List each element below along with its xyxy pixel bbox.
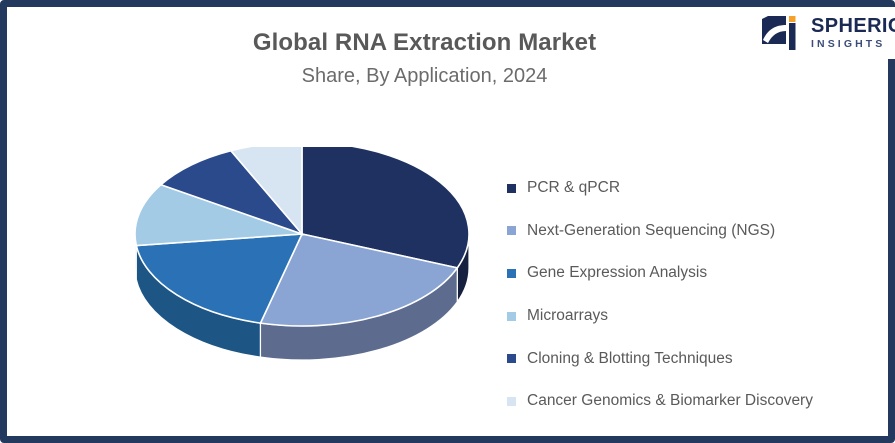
legend-item[interactable]: Gene Expression Analysis <box>507 252 877 295</box>
legend-swatch-icon <box>507 354 516 363</box>
legend-item[interactable]: Cancer Genomics & Biomarker Discovery <box>507 380 877 423</box>
legend-item[interactable]: Cloning & Blotting Techniques <box>507 337 877 380</box>
legend-swatch-icon <box>507 226 516 235</box>
legend-item[interactable]: Microarrays <box>507 295 877 338</box>
legend-item[interactable]: Next-Generation Sequencing (NGS) <box>507 210 877 253</box>
legend-item-label: Gene Expression Analysis <box>527 264 707 282</box>
page-title: Global RNA Extraction Market <box>7 29 842 57</box>
legend-item-label: PCR & qPCR <box>527 179 620 197</box>
chart-card: SPHERICAL INSIGHTS Global RNA Extraction… <box>0 0 895 443</box>
page-subtitle: Share, By Application, 2024 <box>7 65 842 88</box>
pie-chart <box>125 147 495 377</box>
legend-item[interactable]: PCR & qPCR <box>507 167 877 210</box>
legend-swatch-icon <box>507 184 516 193</box>
title-block: Global RNA Extraction Market Share, By A… <box>7 29 842 88</box>
legend-swatch-icon <box>507 397 516 406</box>
legend-item-label: Microarrays <box>527 307 608 325</box>
legend-item-label: Next-Generation Sequencing (NGS) <box>527 222 775 240</box>
chart-legend: PCR & qPCRNext-Generation Sequencing (NG… <box>507 167 877 423</box>
legend-swatch-icon <box>507 269 516 278</box>
pie-chart-svg <box>125 147 495 377</box>
legend-swatch-icon <box>507 312 516 321</box>
legend-item-label: Cancer Genomics & Biomarker Discovery <box>527 392 813 410</box>
legend-item-label: Cloning & Blotting Techniques <box>527 350 733 368</box>
